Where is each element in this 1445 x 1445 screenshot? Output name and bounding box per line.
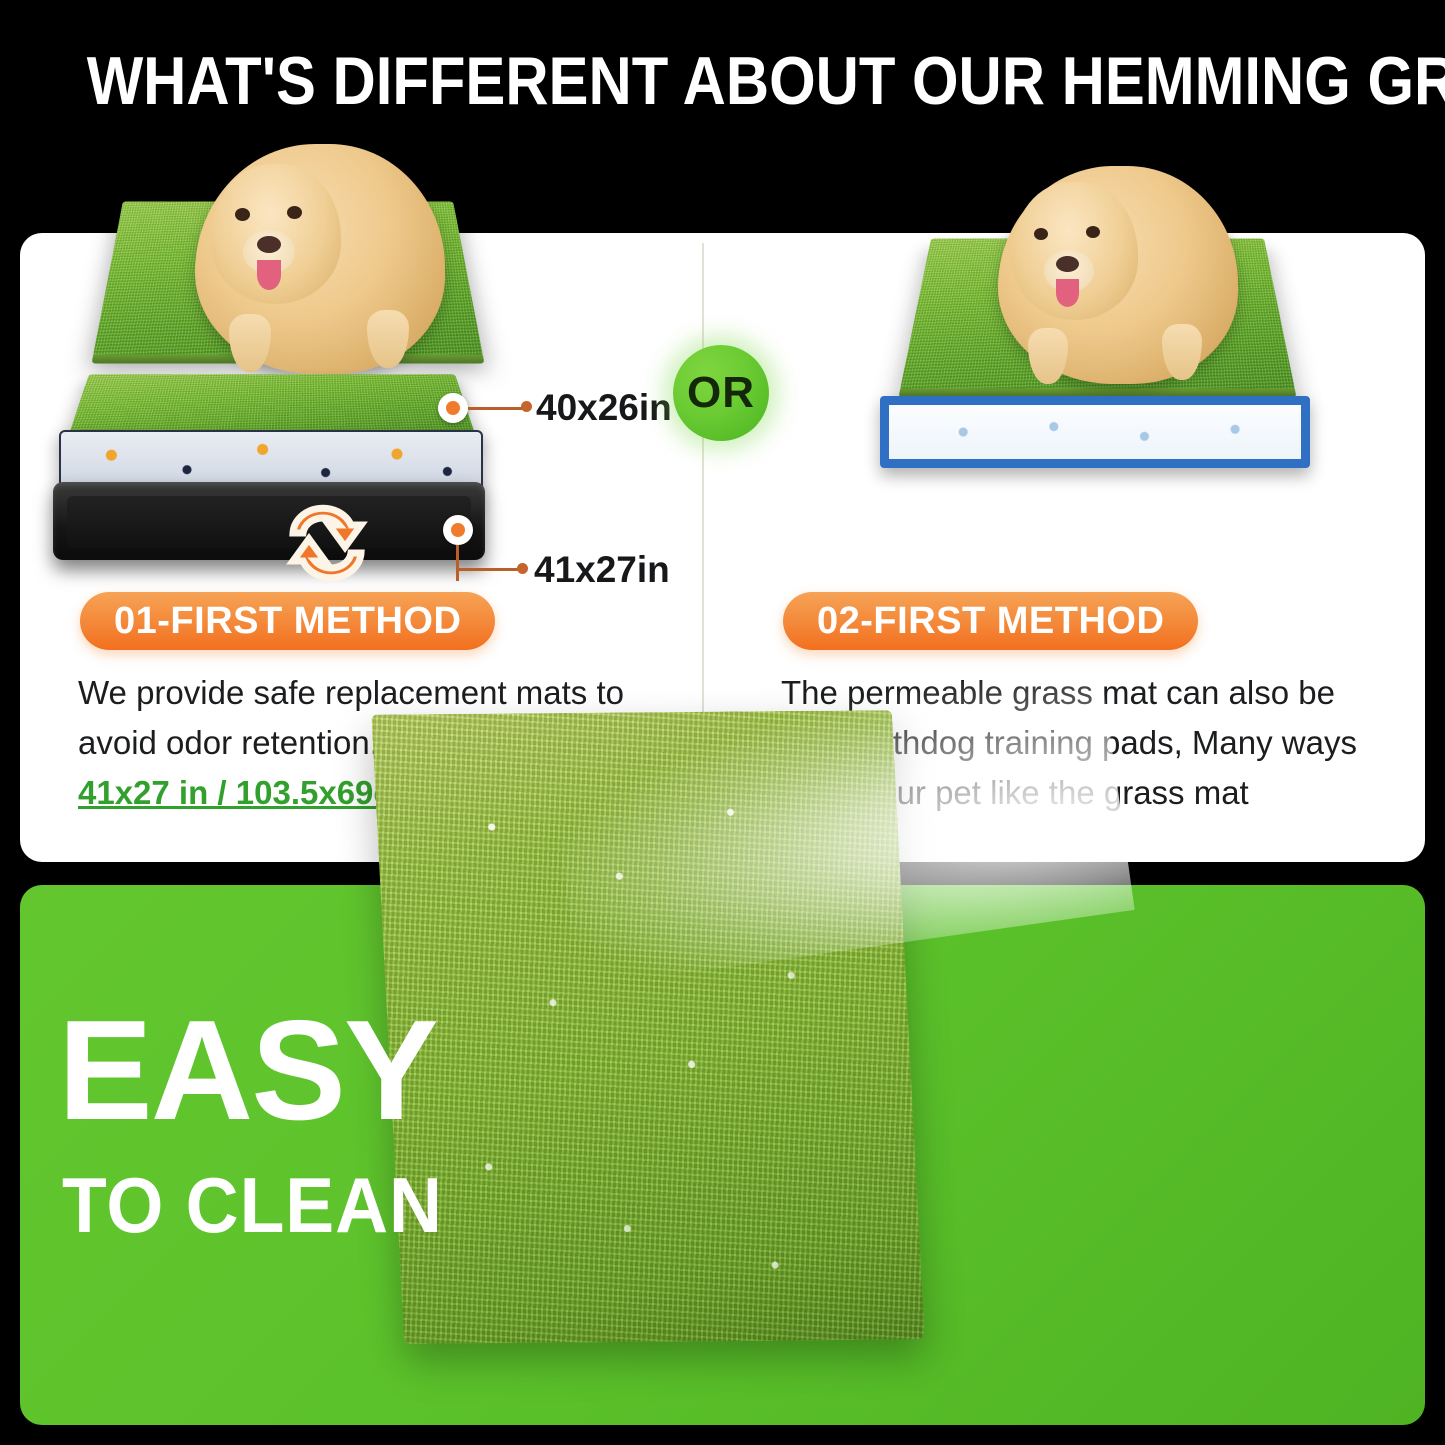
dog-eye (1086, 226, 1100, 238)
callout-tip-dot-icon (517, 563, 528, 574)
callout-line-horizontal (456, 568, 524, 571)
dog-on-mat-right (998, 166, 1238, 384)
dog-eye (287, 206, 302, 219)
callout-label-lower: 41x27in (534, 549, 670, 591)
hotspot-dot-icon (438, 393, 468, 423)
dog-tongue (1056, 279, 1079, 307)
page-title: WHAT'S DIFFERENT ABOUT OUR HEMMING GRASS… (87, 42, 1359, 120)
easy-title: EASY (58, 1000, 437, 1142)
infographic-page: WHAT'S DIFFERENT ABOUT OUR HEMMING GRASS… (0, 0, 1445, 1445)
method-body-01-highlight: 41x27 in / 103.5x69cm (78, 774, 421, 811)
callout-label-upper: 40x26in (536, 387, 672, 429)
dog-nose (257, 236, 281, 253)
dog-eye (235, 208, 250, 221)
dog-eye (1034, 228, 1048, 240)
to-clean-subtitle: TO CLEAN (62, 1162, 443, 1248)
layered-mat-stack-image (45, 130, 515, 570)
blue-training-pad (880, 396, 1310, 468)
recycle-arrows-icon (273, 495, 381, 591)
or-badge: OR (673, 345, 769, 441)
callout-line-vertical (456, 545, 459, 581)
dog-nose (1056, 256, 1079, 272)
callout-tip-dot-icon (521, 401, 532, 412)
callout-line (468, 407, 528, 410)
method-badge-01: 01-FIRST METHOD (80, 592, 495, 650)
wet-grass-mat-image (371, 710, 924, 1344)
black-tray (53, 482, 485, 560)
hotspot-dot-icon (443, 515, 473, 545)
dog-tongue (257, 260, 281, 290)
method-badge-02: 02-FIRST METHOD (783, 592, 1198, 650)
dog-on-mat-left (195, 144, 445, 374)
mat-over-pad-image (880, 160, 1350, 490)
